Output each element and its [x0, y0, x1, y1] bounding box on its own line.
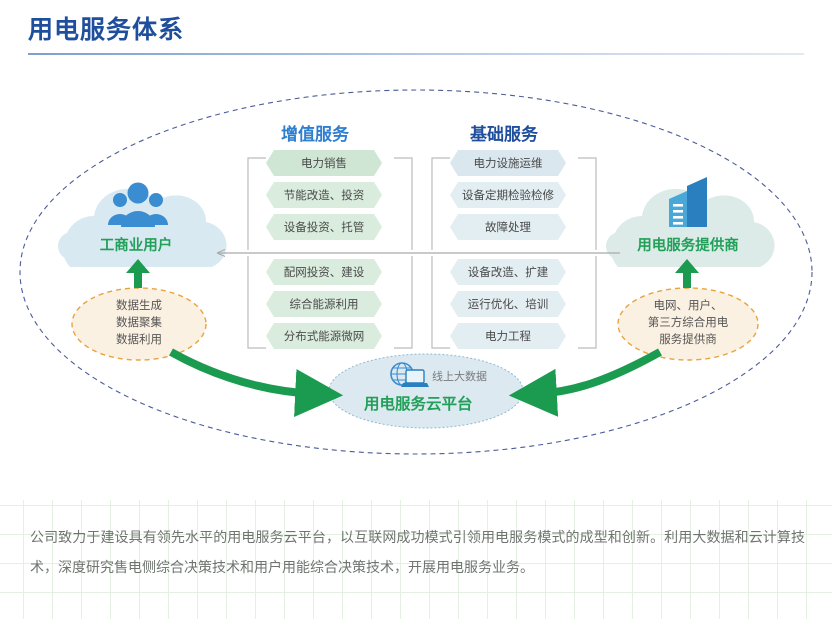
service-system-diagram: 增值服务 基础服务 电力销售 节能改造、投资 设备投资、托管 配网投资、建设 综… [0, 62, 832, 492]
title-divider [28, 53, 804, 55]
chip-value-5[interactable]: 综合能源利用 [266, 291, 382, 317]
left-to-platform-arrow [171, 352, 316, 394]
footer-panel: 公司致力于建设具有领先水平的用电服务云平台，以互联网成功模式引领用电服务模式的成… [0, 500, 832, 619]
right-to-platform-arrow [536, 352, 660, 394]
chip-value-2[interactable]: 节能改造、投资 [266, 182, 382, 208]
left-oval-line-1: 数据生成 [89, 298, 189, 315]
right-oval-line-3: 服务提供商 [628, 332, 748, 349]
platform-ellipse [329, 354, 523, 428]
page-header: 用电服务体系 [0, 0, 832, 62]
chip-value-4[interactable]: 配网投资、建设 [266, 259, 382, 285]
chip-value-3[interactable]: 设备投资、托管 [266, 214, 382, 240]
right-oval-line-1: 电网、用户、 [628, 298, 748, 315]
right-cloud-label: 用电服务提供商 [624, 234, 752, 255]
footer-description: 公司致力于建设具有领先水平的用电服务云平台，以互联网成功模式引领用电服务模式的成… [30, 522, 805, 582]
left-oval-line-2: 数据聚集 [89, 315, 189, 332]
column-heading-basic: 基础服务 [470, 120, 538, 145]
chip-value-6[interactable]: 分布式能源微网 [266, 323, 382, 349]
column-heading-value-added: 增值服务 [281, 120, 349, 145]
chip-basic-5[interactable]: 运行优化、培训 [450, 291, 566, 317]
platform-subtitle: 线上大数据 [432, 368, 487, 384]
page-title: 用电服务体系 [28, 10, 184, 46]
chip-basic-6[interactable]: 电力工程 [450, 323, 566, 349]
office-building-icon [669, 177, 707, 227]
chip-value-1[interactable]: 电力销售 [266, 150, 382, 176]
chip-basic-2[interactable]: 设备定期检验检修 [450, 182, 566, 208]
chip-basic-1[interactable]: 电力设施运维 [450, 150, 566, 176]
diagram-canvas [0, 62, 832, 492]
chip-basic-3[interactable]: 故障处理 [450, 214, 566, 240]
platform-title: 用电服务云平台 [364, 392, 473, 414]
chip-basic-4[interactable]: 设备改造、扩建 [450, 259, 566, 285]
right-oval-line-2: 第三方综合用电 [628, 315, 748, 332]
left-oval-line-3: 数据利用 [89, 332, 189, 349]
left-cloud-label: 工商业用户 [80, 234, 192, 255]
